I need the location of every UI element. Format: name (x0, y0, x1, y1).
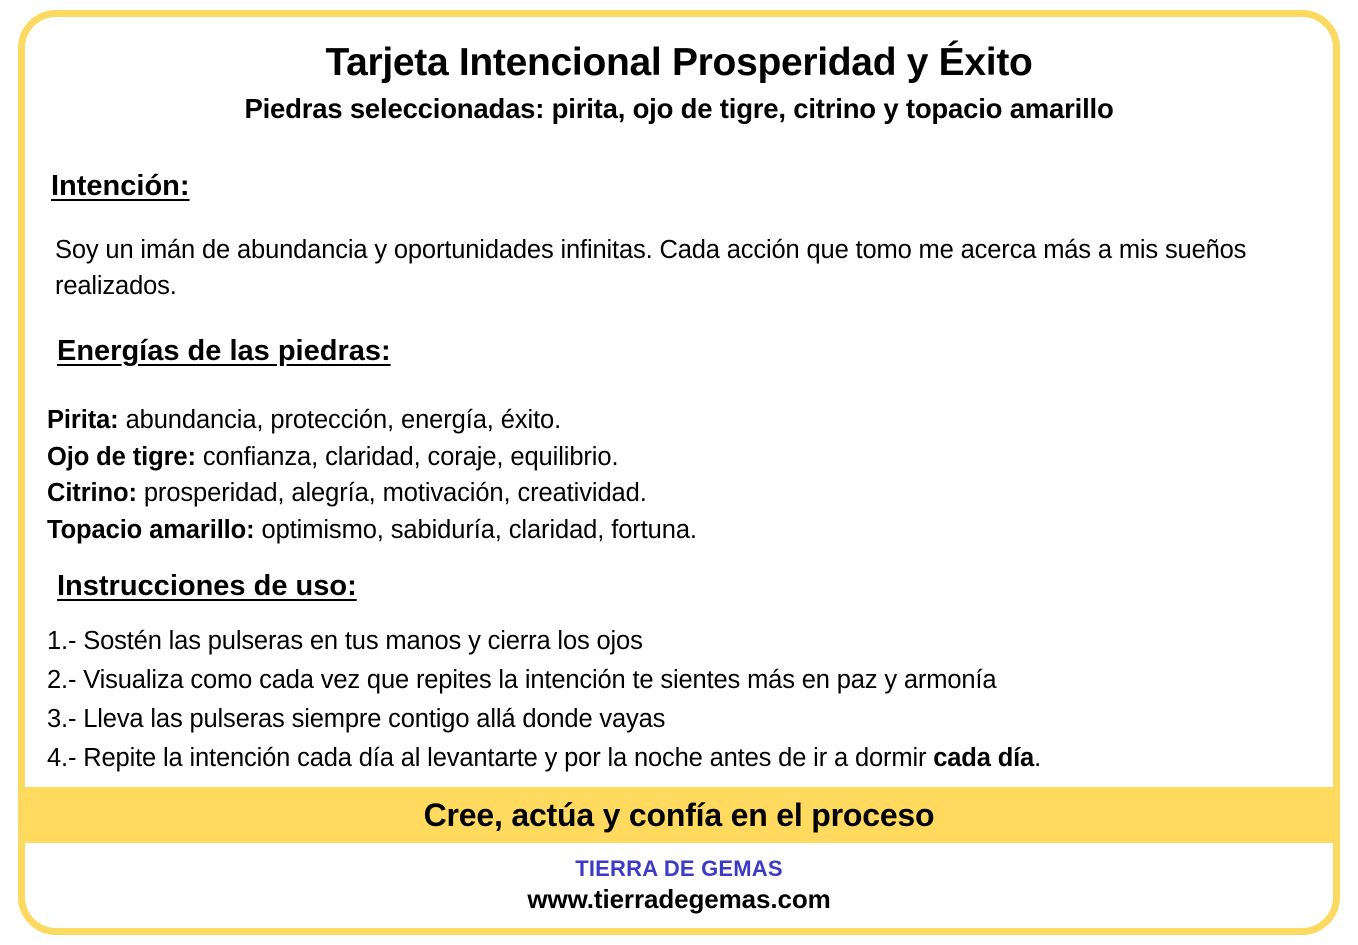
page-subtitle: Piedras seleccionadas: pirita, ojo de ti… (25, 82, 1333, 123)
section-heading-energias: Energías de las piedras: (57, 337, 391, 366)
step-number: 3.- (47, 705, 76, 733)
intention-card: Tarjeta Intencional Prosperidad y Éxito … (18, 10, 1340, 935)
list-item: Citrino: prosperidad, alegría, motivació… (47, 475, 1317, 512)
stone-label: Topacio amarillo: (47, 516, 255, 544)
page-title: Tarjeta Intencional Prosperidad y Éxito (25, 17, 1333, 82)
step-emphasis: cada día (933, 744, 1034, 772)
brand-name: TIERRA DE GEMAS (25, 857, 1333, 881)
step-number: 4.- (47, 744, 76, 772)
stone-label: Citrino: (47, 479, 137, 507)
affirmation-banner: Cree, actúa y confía en el proceso (25, 787, 1333, 843)
list-item: Topacio amarillo: optimismo, sabiduría, … (47, 512, 1317, 549)
list-item: 2.- Visualiza como cada vez que repites … (47, 661, 1332, 700)
stone-text: optimismo, sabiduría, claridad, fortuna. (255, 516, 697, 544)
list-item: 4.- Repite la intención cada día al leva… (47, 739, 1332, 778)
intention-body-text: Soy un imán de abundancia y oportunidade… (55, 232, 1325, 304)
stone-text: confianza, claridad, coraje, equilibrio. (196, 443, 619, 471)
list-item: 1.- Sostén las pulseras en tus manos y c… (47, 622, 1332, 661)
stone-energies-list: Pirita: abundancia, protección, energía,… (47, 402, 1317, 549)
affirmation-banner-text: Cree, actúa y confía en el proceso (424, 799, 935, 831)
section-heading-intencion: Intención: (51, 172, 190, 201)
list-item: Pirita: abundancia, protección, energía,… (47, 402, 1317, 439)
stone-text: prosperidad, alegría, motivación, creati… (137, 479, 647, 507)
step-text: Lleva las pulseras siempre contigo allá … (76, 705, 665, 733)
step-number: 2.- (47, 666, 76, 694)
card-footer: TIERRA DE GEMAS www.tierradegemas.com (25, 857, 1333, 915)
step-number: 1.- (47, 627, 76, 655)
instruction-steps-list: 1.- Sostén las pulseras en tus manos y c… (47, 622, 1332, 778)
stone-label: Ojo de tigre: (47, 443, 196, 471)
stone-text: abundancia, protección, energía, éxito. (119, 406, 562, 434)
step-text: Visualiza como cada vez que repites la i… (76, 666, 996, 694)
step-text: Sostén las pulseras en tus manos y cierr… (76, 627, 642, 655)
list-item: 3.- Lleva las pulseras siempre contigo a… (47, 700, 1332, 739)
website-url: www.tierradegemas.com (25, 885, 1333, 915)
step-text: Repite la intención cada día al levantar… (76, 744, 933, 772)
step-tail: . (1034, 744, 1041, 772)
section-heading-instrucciones: Instrucciones de uso: (57, 572, 357, 601)
card-inner: Tarjeta Intencional Prosperidad y Éxito … (25, 17, 1333, 928)
stone-label: Pirita: (47, 406, 119, 434)
list-item: Ojo de tigre: confianza, claridad, coraj… (47, 439, 1317, 476)
